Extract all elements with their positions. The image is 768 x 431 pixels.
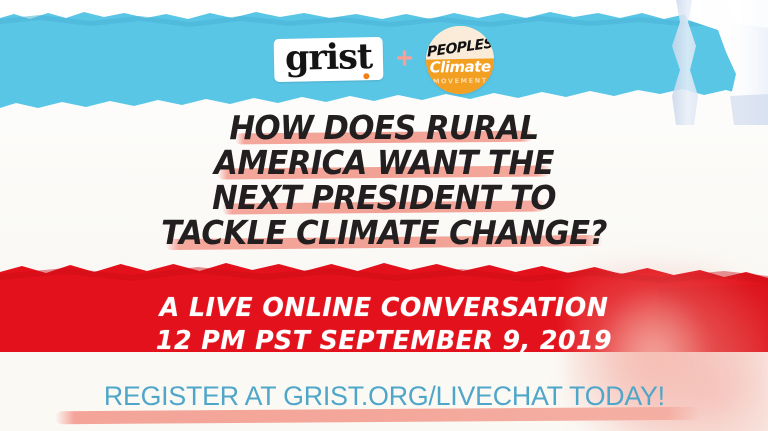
headline-line-1: HOW DOES RURAL: [27, 110, 741, 145]
logo-lockup: grist + PEOPLES Climate MOVEMENT: [0, 26, 768, 94]
event-datetime-line: 12 PM PST SEPTEMBER 9, 2019: [12, 325, 757, 358]
peoples-climate-movement-logo[interactable]: PEOPLES Climate MOVEMENT: [426, 25, 495, 94]
grist-logo[interactable]: grist: [273, 37, 383, 82]
headline-line-3-text: NEXT PRESIDENT TO: [212, 178, 556, 217]
headline-line-1-text: HOW DOES RURAL: [229, 108, 538, 147]
headline-line-4-text: TACKLE CLIMATE CHANGE?: [161, 213, 607, 252]
headline-line-3: NEXT PRESIDENT TO: [27, 180, 741, 215]
poster-graphic: grist + PEOPLES Climate MOVEMENT HOW DOE…: [0, 0, 768, 431]
plus-icon: +: [396, 44, 414, 74]
grist-orange-dot-icon: [363, 74, 369, 80]
register-cta[interactable]: REGISTER AT GRIST.ORG/LIVECHAT TODAY!: [0, 381, 768, 411]
event-format-line: A LIVE ONLINE CONVERSATION: [12, 292, 757, 325]
pcm-logo-top-half: PEOPLES: [426, 25, 495, 59]
headline-line-2: AMERICA WANT THE: [27, 145, 741, 180]
headline-line-2-text: AMERICA WANT THE: [214, 143, 554, 182]
pcm-movement-text: MOVEMENT: [427, 76, 495, 85]
headline-block: HOW DOES RURAL AMERICA WANT THE NEXT PRE…: [0, 110, 768, 250]
pcm-climate-text: Climate: [426, 58, 494, 76]
headline-line-4: TACKLE CLIMATE CHANGE?: [27, 215, 741, 250]
register-cta-text: REGISTER AT GRIST.ORG/LIVECHAT TODAY!: [103, 381, 664, 411]
grist-wordmark: grist: [284, 41, 372, 75]
event-details-block: A LIVE ONLINE CONVERSATION 12 PM PST SEP…: [0, 292, 768, 358]
